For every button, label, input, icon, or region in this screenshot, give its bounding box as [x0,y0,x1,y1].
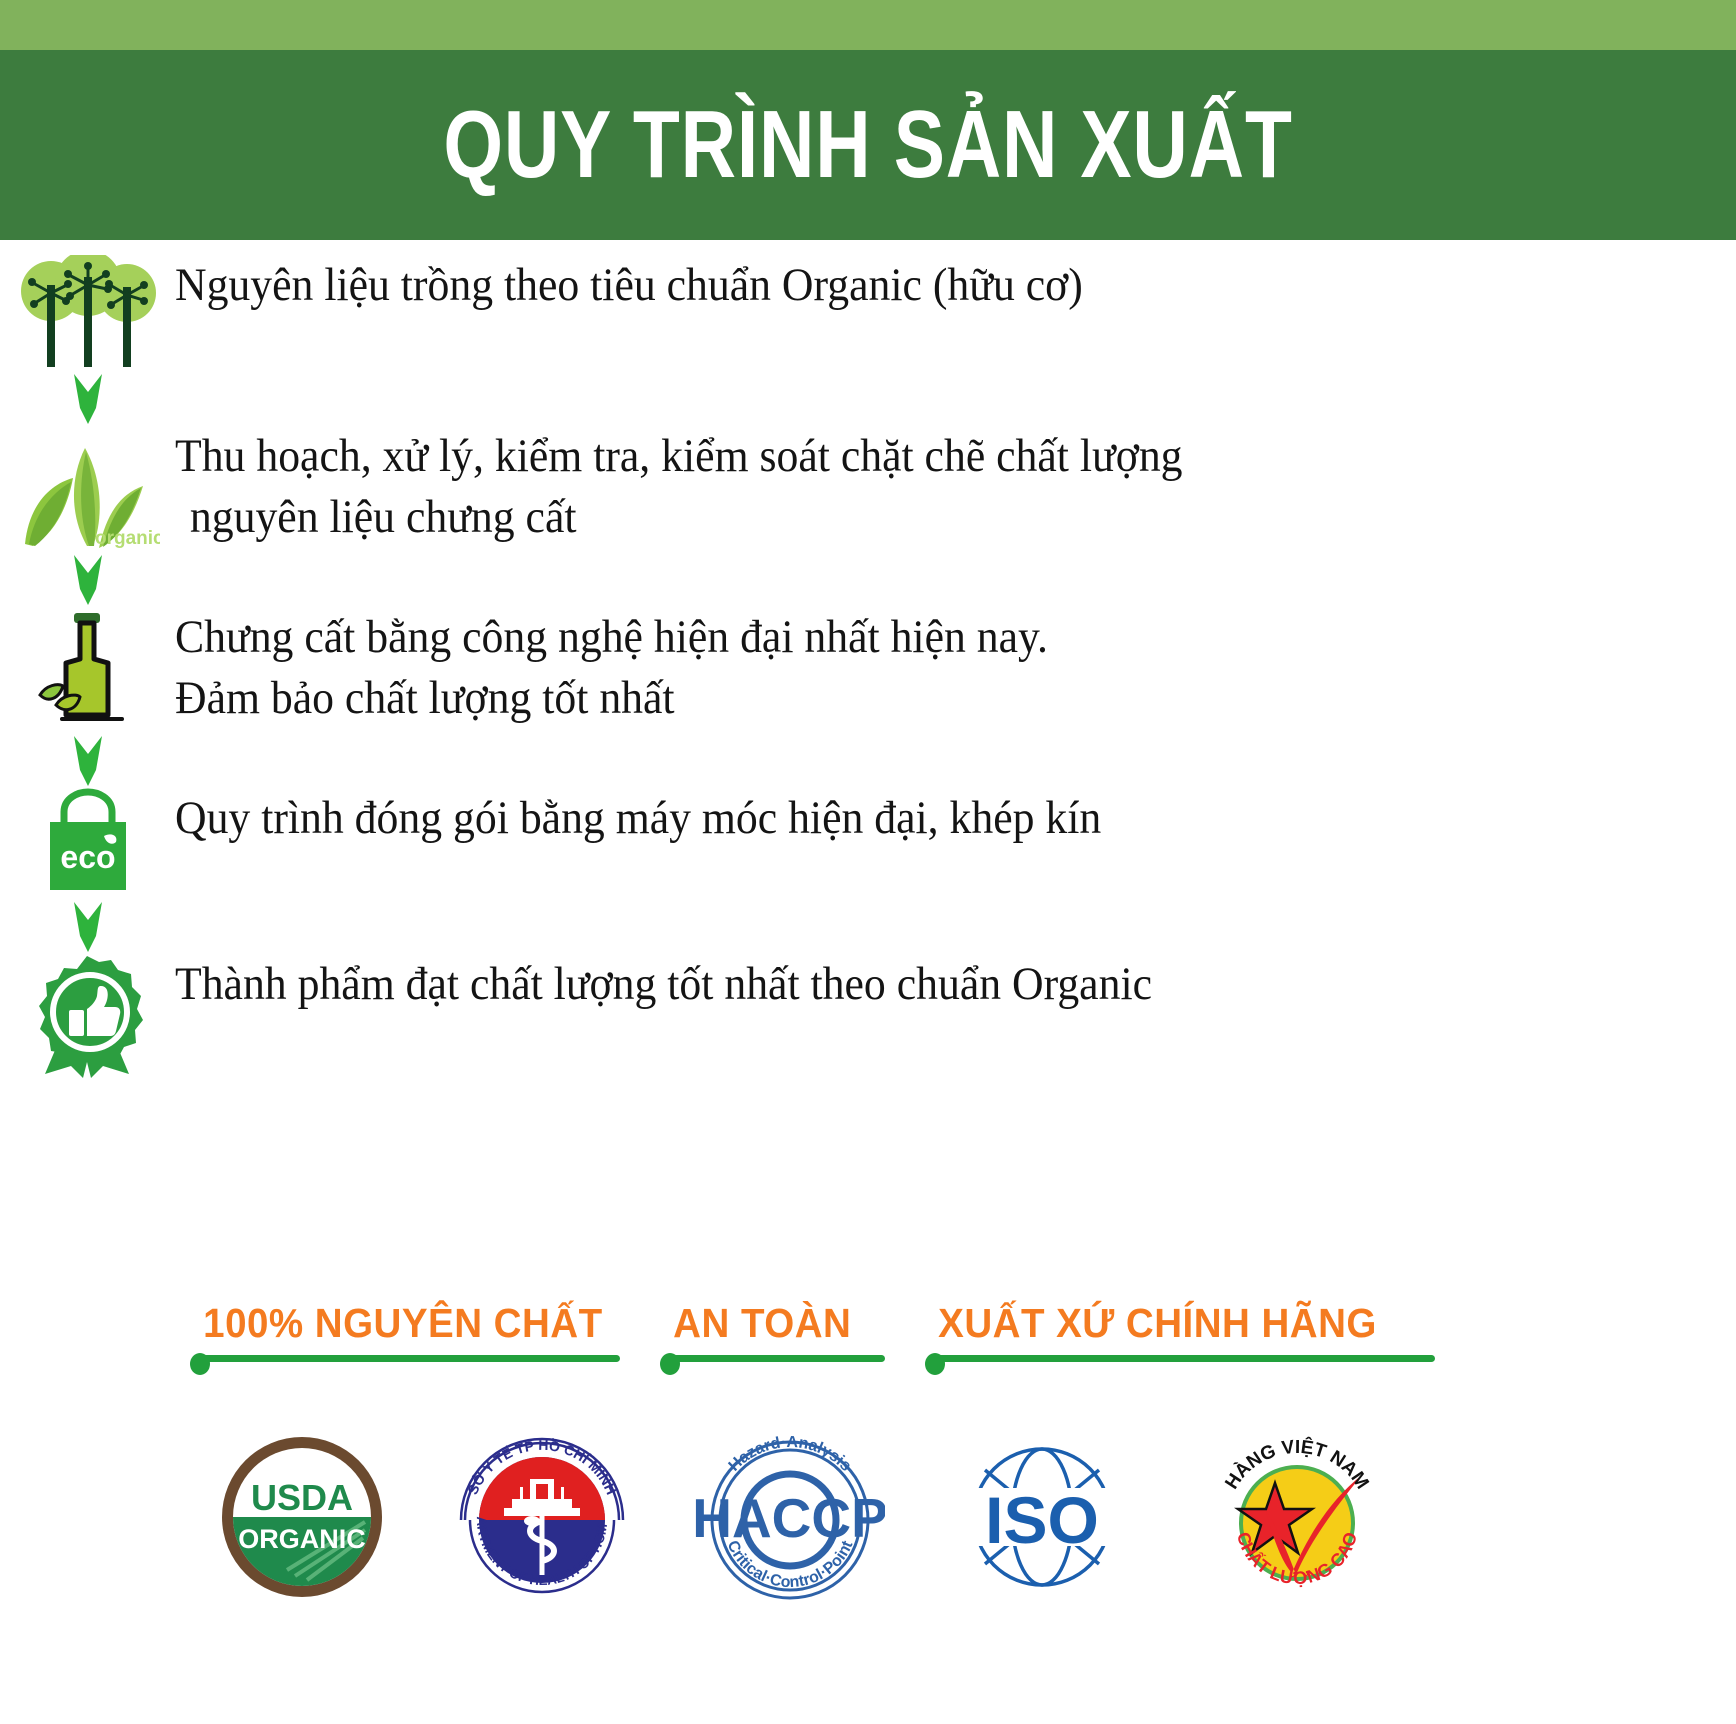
feature-badge-2: AN TOÀN [660,1300,885,1363]
process-step-4-text: Quy trình đóng gói bằng máy móc hiện đại… [175,788,1627,849]
step-line-1: Thu hoạch, xử lý, kiểm tra, kiểm soát ch… [175,430,1183,482]
arrow-3 [0,732,1736,788]
iso-center-text: ISO [985,1483,1099,1557]
arrow-1 [0,370,1736,426]
three-trees-icon [0,255,175,370]
eco-bag-icon: eco [0,788,175,898]
step-line-2: nguyên liệu chưng cất [175,487,1590,548]
usda-bottom-text: ORGANIC [238,1524,366,1554]
eco-icon-label: eco [60,839,115,875]
process-step-3-text: Chưng cất bằng công nghệ hiện đại nhất h… [175,607,1627,729]
down-arrow-icon [0,898,175,954]
rule-line [935,1355,1435,1362]
feature-badge-1-rule [190,1353,620,1363]
feature-badge-3-rule [925,1353,1435,1363]
process-step-2-text: Thu hoạch, xử lý, kiểm tra, kiểm soát ch… [175,426,1627,548]
quality-thumbs-up-badge-icon [0,954,175,1079]
haccp-center-text: HACCP [695,1487,885,1549]
down-arrow-icon [0,370,175,426]
feature-badge-2-rule [660,1353,885,1363]
rule-dot [660,1353,680,1375]
feature-badges-row: 100% NGUYÊN CHẤT AN TOÀN XUẤT XỨ CHÍNH H… [0,1300,1736,1363]
hang-viet-nam-chat-luong-cao-logo: HÀNG VIỆT NAM CHẤT LƯỢNG CAO [1200,1425,1395,1615]
top-accent-stripe [0,0,1736,50]
rule-dot [190,1353,210,1375]
down-arrow-icon [0,551,175,607]
haccp-logo: HACCP Hazard·Analysis Critical·Control·P… [695,1425,885,1615]
haccp-top-text: Hazard·Analysis [726,1434,855,1475]
down-arrow-icon [0,732,175,788]
step-line-2: Đảm bảo chất lượng tốt nhất [175,668,1590,729]
feature-badge-3: XUẤT XỨ CHÍNH HÃNG [925,1300,1435,1363]
feature-badge-3-label: XUẤT XỨ CHÍNH HÃNG [925,1300,1404,1347]
usda-top-text: USDA [251,1477,353,1518]
rule-line [670,1355,885,1362]
process-step-1: Nguyên liệu trồng theo tiêu chuẩn Organi… [0,255,1736,370]
rule-dot [925,1353,945,1375]
arrow-4 [0,898,1736,954]
feature-badge-2-label: AN TOÀN [660,1300,872,1347]
process-steps-list: Nguyên liệu trồng theo tiêu chuẩn Organi… [0,255,1736,1079]
organic-leaves-icon: organic [0,426,175,551]
organic-icon-label: organic [95,528,160,549]
step-line-1: Nguyên liệu trồng theo tiêu chuẩn Organi… [175,259,1083,311]
process-step-1-text: Nguyên liệu trồng theo tiêu chuẩn Organi… [175,255,1627,316]
page-title: QUY TRÌNH SẢN XUẤT [174,50,1563,240]
process-step-4: eco Quy trình đóng gói bằng máy móc hiện… [0,788,1736,898]
process-step-3: Chưng cất bằng công nghệ hiện đại nhất h… [0,607,1736,732]
step-line-1: Chưng cất bằng công nghệ hiện đại nhất h… [175,611,1048,663]
distillation-bottle-icon [0,607,175,732]
department-of-health-hcm-city-logo: SỞ Y TẾ TP HỒ CHÍ MINH DEPARTMENT OF HEA… [450,1425,635,1615]
iso-logo: ISO [945,1430,1140,1610]
step-line-1: Quy trình đóng gói bằng máy móc hiện đại… [175,792,1101,844]
certification-logos-row: USDA ORGANIC [0,1425,1736,1615]
rule-line [200,1355,620,1362]
feature-badge-1-label: 100% NGUYÊN CHẤT [190,1300,594,1347]
process-step-2: organic Thu hoạch, xử lý, kiểm tra, kiểm… [0,426,1736,551]
svg-text:Hazard·Analysis: Hazard·Analysis [726,1434,855,1475]
process-step-5-text: Thành phẩm đạt chất lượng tốt nhất theo … [175,954,1627,1015]
process-step-5: Thành phẩm đạt chất lượng tốt nhất theo … [0,954,1736,1079]
feature-badge-1: 100% NGUYÊN CHẤT [190,1300,620,1363]
usda-organic-seal: USDA ORGANIC [215,1430,390,1610]
arrow-2 [0,551,1736,607]
step-line-1: Thành phẩm đạt chất lượng tốt nhất theo … [175,958,1152,1010]
